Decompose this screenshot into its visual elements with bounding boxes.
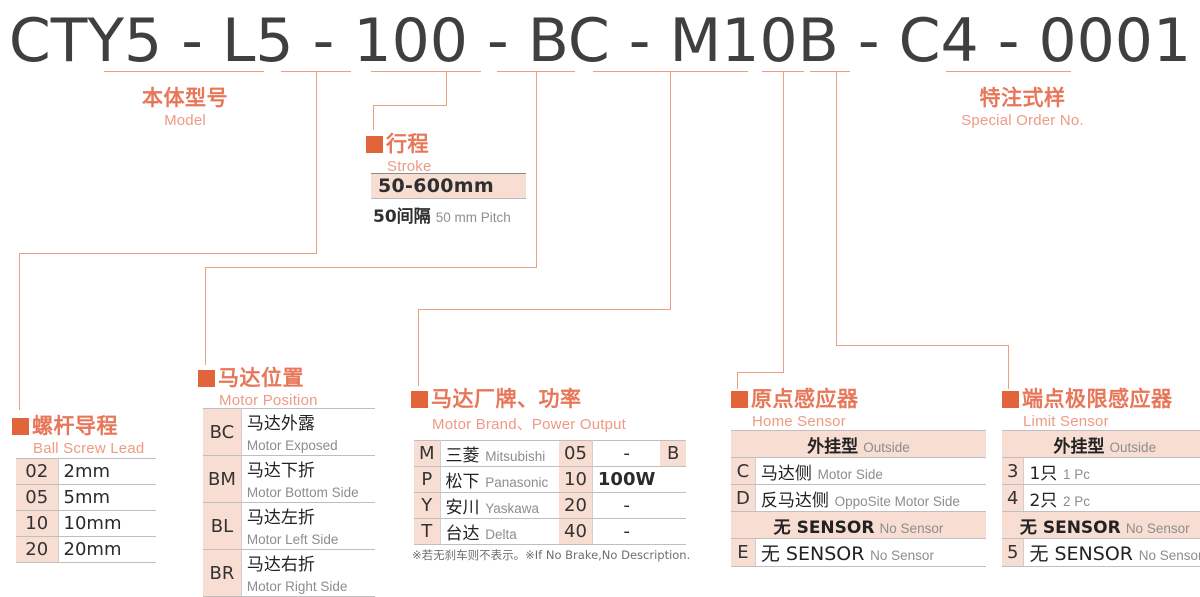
cell-brand-code: T — [414, 519, 440, 545]
cell-brand-en: Panasonic — [485, 475, 548, 490]
label-model: 本体型号 Model — [100, 82, 270, 129]
table-row: E 无 SENSOR No Sensor — [731, 539, 986, 567]
connector-lead-h — [19, 253, 317, 254]
connector-stroke-v2 — [373, 105, 374, 130]
stroke-range-value: 50-600mm — [378, 175, 494, 197]
marker-square-icon — [731, 391, 748, 408]
band-no-sensor-cn: 无 SENSOR — [774, 518, 875, 538]
connector-motorpos-v1 — [536, 71, 537, 267]
connector-home-v1 — [783, 71, 784, 372]
table-row: BM 马达下折 Motor Bottom Side — [203, 456, 375, 503]
marker-square-icon — [411, 391, 428, 408]
cell-value-cn: 无 SENSOR — [761, 543, 865, 565]
cell-code: 5 — [1002, 539, 1024, 567]
cell-value: 无 SENSOR No Sensor — [1024, 539, 1200, 567]
cell-brand-cn: 松下 — [446, 472, 480, 492]
underline-special — [946, 71, 1071, 72]
heading-ball-screw-lead: 螺杆导程 Ball Screw Lead — [12, 410, 144, 457]
cell-brand-en: Yaskawa — [485, 501, 539, 516]
table-row: 4 2只 2 Pc — [1002, 485, 1200, 512]
heading-motor-position: 马达位置 Motor Position — [198, 362, 318, 409]
cell-brand-cn: 三菱 — [446, 446, 480, 466]
connector-lead-v2 — [19, 253, 20, 410]
cell-value-cn: 1只 — [1029, 464, 1057, 484]
table-row: 3 1只 1 Pc — [1002, 458, 1200, 485]
heading-motor-brand-en: Motor Brand、Power Output — [432, 413, 626, 434]
table-row: M 三菱 Mitsubishi 05 - B — [414, 441, 686, 467]
cell-value: 1只 1 Pc — [1024, 458, 1200, 485]
underline-limit — [810, 71, 850, 72]
cell-value: 无 SENSOR No Sensor — [755, 539, 986, 567]
cell-value: 马达左折 Motor Left Side — [241, 503, 375, 550]
product-code: CTY5 - L5 - 100 - BC - M10B - C4 - 0001 — [0, 6, 1200, 76]
band-no-sensor: 无 SENSOR No Sensor — [731, 512, 986, 539]
heading-motor-brand: 马达厂牌、功率 Motor Brand、Power Output — [411, 383, 626, 434]
label-model-cn: 本体型号 — [100, 82, 270, 112]
table-row: Y 安川 Yaskawa 20 - — [414, 493, 686, 519]
cell-brake — [660, 467, 686, 493]
cell-brand-name: 台达 Delta — [440, 519, 559, 545]
table-motor-brand: M 三菱 Mitsubishi 05 - B P 松下 Panasonic 10… — [414, 440, 686, 545]
cell-power-code: 10 — [559, 467, 592, 493]
table-row-band: 无 SENSOR No Sensor — [1002, 512, 1200, 539]
diagram-canvas: CTY5 - L5 - 100 - BC - M10B - C4 - 0001 … — [0, 0, 1200, 575]
table-motor-position: BC 马达外露 Motor Exposed BM 马达下折 Motor Bott… — [203, 408, 375, 597]
cell-brand-name: 安川 Yaskawa — [440, 493, 559, 519]
cell-value: 马达侧 Motor Side — [755, 458, 986, 485]
cell-code: C — [731, 458, 755, 485]
cell-value-en: 1 Pc — [1063, 467, 1090, 482]
label-special-order-cn: 特注式样 — [940, 82, 1105, 112]
band-outside-cn: 外挂型 — [807, 437, 858, 457]
cell-value: 10mm — [58, 511, 156, 537]
cell-value-cn: 马达右折 — [247, 555, 315, 575]
heading-home-sensor: 原点感应器 Home Sensor — [731, 383, 859, 430]
cell-value-en: 2 Pc — [1063, 494, 1090, 509]
table-row: P 松下 Panasonic 10 100W — [414, 467, 686, 493]
cell-brand-code: P — [414, 467, 440, 493]
heading-ball-screw-lead-cn: 螺杆导程 — [32, 414, 118, 438]
cell-brand-code: Y — [414, 493, 440, 519]
cell-brand-en: Mitsubishi — [485, 449, 545, 464]
cell-code: BL — [203, 503, 241, 550]
stroke-pitch: 50间隔 50 mm Pitch — [373, 202, 511, 227]
band-outside-en: Outside — [863, 440, 910, 455]
cell-code: 02 — [16, 459, 58, 485]
band-no-sensor-en: No Sensor — [880, 521, 944, 536]
marker-square-icon — [198, 370, 215, 387]
table-row: T 台达 Delta 40 - — [414, 519, 686, 545]
motor-brand-note: ※若无刹车则不表示。※If No Brake,No Description. — [412, 547, 690, 563]
cell-code: BR — [203, 550, 241, 597]
cell-value-en: No Sensor — [870, 548, 934, 563]
cell-brand-en: Delta — [485, 527, 517, 542]
cell-value-en: Motor Right Side — [247, 579, 348, 594]
connector-motorpos-v2 — [205, 267, 206, 365]
table-row: 02 2mm — [16, 459, 156, 485]
marker-square-icon — [12, 418, 29, 435]
cell-code: BC — [203, 409, 241, 456]
cell-watt: 100W — [592, 467, 660, 493]
cell-value: 20mm — [58, 537, 156, 563]
table-row: BC 马达外露 Motor Exposed — [203, 409, 375, 456]
cell-brake — [660, 493, 686, 519]
heading-stroke: 行程 Stroke — [366, 128, 432, 175]
cell-value: 5mm — [58, 485, 156, 511]
cell-value-en: No Sensor — [1139, 548, 1200, 563]
band-outside: 外挂型 Outside — [1002, 431, 1200, 458]
cell-value-en: Motor Side — [818, 467, 883, 482]
cell-brand-name: 松下 Panasonic — [440, 467, 559, 493]
connector-stroke-v1 — [446, 71, 447, 105]
cell-code: 3 — [1002, 458, 1024, 485]
table-row: 05 5mm — [16, 485, 156, 511]
cell-code: 4 — [1002, 485, 1024, 512]
cell-power-code: 40 — [559, 519, 592, 545]
heading-stroke-cn: 行程 — [386, 132, 429, 156]
cell-code: 10 — [16, 511, 58, 537]
heading-limit-sensor-en: Limit Sensor — [1023, 413, 1173, 430]
cell-value: 马达外露 Motor Exposed — [241, 409, 375, 456]
table-ball-screw-lead: 02 2mm 05 5mm 10 10mm 20 20mm — [16, 458, 156, 563]
connector-stroke-h — [373, 105, 447, 106]
cell-code: BM — [203, 456, 241, 503]
band-outside-en: Outside — [1110, 440, 1157, 455]
cell-value-en: Motor Bottom Side — [247, 485, 359, 500]
heading-home-sensor-en: Home Sensor — [752, 413, 859, 430]
cell-power-code: 20 — [559, 493, 592, 519]
table-row: BR 马达右折 Motor Right Side — [203, 550, 375, 597]
table-row: D 反马达侧 OppoSite Motor Side — [731, 485, 986, 512]
cell-value: 2只 2 Pc — [1024, 485, 1200, 512]
cell-value-en: OppoSite Motor Side — [835, 494, 960, 509]
cell-brake: B — [660, 441, 686, 467]
table-row-band: 外挂型 Outside — [1002, 431, 1200, 458]
cell-value: 反马达侧 OppoSite Motor Side — [755, 485, 986, 512]
connector-lead-v1 — [316, 71, 317, 253]
cell-watt: - — [592, 441, 660, 467]
cell-brand-cn: 台达 — [446, 524, 480, 544]
table-row: 5 无 SENSOR No Sensor — [1002, 539, 1200, 567]
table-row: C 马达侧 Motor Side — [731, 458, 986, 485]
cell-value-cn: 马达下折 — [247, 461, 315, 481]
connector-limit-h — [836, 345, 1008, 346]
heading-limit-sensor-cn: 端点极限感应器 — [1022, 387, 1173, 411]
heading-limit-sensor: 端点极限感应器 Limit Sensor — [1002, 383, 1173, 430]
stroke-pitch-en: 50 mm Pitch — [436, 210, 511, 225]
cell-value-cn: 马达左折 — [247, 508, 315, 528]
heading-motor-position-cn: 马达位置 — [218, 366, 304, 390]
band-no-sensor-cn: 无 SENSOR — [1020, 518, 1121, 538]
heading-ball-screw-lead-en: Ball Screw Lead — [33, 440, 144, 457]
heading-home-sensor-cn: 原点感应器 — [751, 387, 859, 411]
cell-brand-name: 三菱 Mitsubishi — [440, 441, 559, 467]
cell-code: 20 — [16, 537, 58, 563]
cell-value-cn: 2只 — [1029, 491, 1057, 511]
label-model-en: Model — [100, 112, 270, 129]
cell-value: 马达右折 Motor Right Side — [241, 550, 375, 597]
table-row: 20 20mm — [16, 537, 156, 563]
cell-value-cn: 无 SENSOR — [1029, 543, 1133, 565]
connector-brand-v2 — [418, 309, 419, 386]
cell-value: 马达下折 Motor Bottom Side — [241, 456, 375, 503]
connector-motorpos-h — [205, 267, 537, 268]
connector-brand-v1 — [670, 71, 671, 309]
cell-code: D — [731, 485, 755, 512]
table-row: BL 马达左折 Motor Left Side — [203, 503, 375, 550]
connector-brand-h — [418, 309, 671, 310]
cell-value-cn: 反马达侧 — [761, 491, 829, 511]
stroke-pitch-cn: 50间隔 — [373, 207, 431, 227]
label-special-order-en: Special Order No. — [940, 112, 1105, 129]
band-outside-cn: 外挂型 — [1053, 437, 1104, 457]
table-home-sensor: 外挂型 Outside C 马达侧 Motor Side D 反马达侧 Oppo… — [731, 430, 986, 567]
table-row: 10 10mm — [16, 511, 156, 537]
marker-square-icon — [1002, 391, 1019, 408]
table-limit-sensor: 外挂型 Outside 3 1只 1 Pc 4 2只 2 Pc — [1002, 430, 1200, 567]
cell-brake — [660, 519, 686, 545]
cell-value-cn: 马达侧 — [761, 464, 812, 484]
label-special-order: 特注式样 Special Order No. — [940, 82, 1105, 129]
cell-code: 05 — [16, 485, 58, 511]
cell-value-en: Motor Exposed — [247, 438, 338, 453]
cell-value: 2mm — [58, 459, 156, 485]
cell-brand-code: M — [414, 441, 440, 467]
band-no-sensor: 无 SENSOR No Sensor — [1002, 512, 1200, 539]
table-row-band: 外挂型 Outside — [731, 431, 986, 458]
cell-code: E — [731, 539, 755, 567]
cell-value-cn: 马达外露 — [247, 414, 315, 434]
heading-motor-position-en: Motor Position — [219, 392, 318, 409]
stroke-range-box: 50-600mm — [371, 173, 526, 199]
band-outside: 外挂型 Outside — [731, 431, 986, 458]
cell-value-en: Motor Left Side — [247, 532, 339, 547]
underline-stroke — [371, 71, 481, 72]
cell-brand-cn: 安川 — [446, 498, 480, 518]
connector-home-h — [737, 372, 784, 373]
heading-motor-brand-cn: 马达厂牌、功率 — [431, 387, 582, 411]
underline-model — [104, 71, 264, 72]
table-row-band: 无 SENSOR No Sensor — [731, 512, 986, 539]
cell-power-code: 05 — [559, 441, 592, 467]
cell-watt: - — [592, 493, 660, 519]
connector-limit-v1 — [836, 71, 837, 345]
band-no-sensor-en: No Sensor — [1126, 521, 1190, 536]
cell-watt: - — [592, 519, 660, 545]
marker-square-icon — [366, 136, 383, 153]
